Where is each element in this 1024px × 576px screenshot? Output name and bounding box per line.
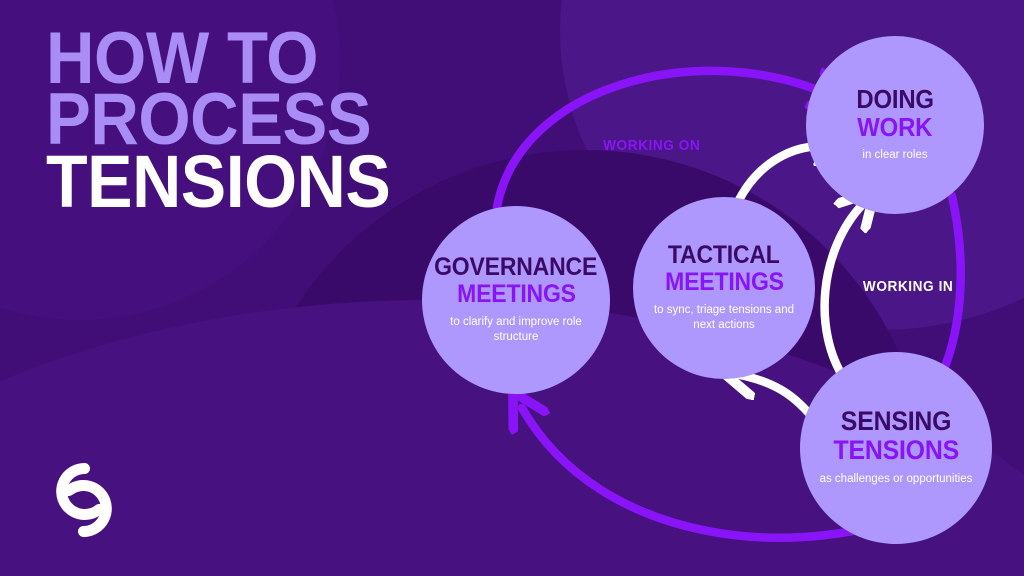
page-title: HOW TO PROCESS TENSIONS (46, 28, 420, 213)
node-governance-meetings[interactable]: GOVERNANCE MEETINGS to clarify and impro… (422, 206, 610, 394)
flow-label-working-in: WORKING IN (863, 279, 953, 295)
node-sensing-tensions-title-bottom: TENSIONS (833, 437, 959, 464)
node-governance-meetings-title-top: GOVERNANCE (434, 255, 597, 280)
node-governance-meetings-title-bottom: MEETINGS (457, 282, 576, 307)
node-doing-work-subtitle: in clear roles (862, 148, 927, 163)
node-tactical-meetings-title-top: TACTICAL (668, 243, 780, 268)
node-doing-work[interactable]: DOING WORK in clear roles (806, 36, 984, 214)
node-doing-work-title-bottom: WORK (857, 114, 932, 140)
node-governance-meetings-subtitle: to clarify and improve role structure (431, 315, 600, 345)
node-sensing-tensions-subtitle: as challenges or opportunities (820, 472, 973, 487)
node-tactical-meetings-subtitle: to sync, triage tensions and next action… (642, 303, 806, 333)
arrow-sensing-to-doing (825, 205, 862, 380)
node-sensing-tensions[interactable]: SENSING TENSIONS as challenges or opport… (800, 352, 992, 544)
interlocking-rings-logo-icon (42, 458, 126, 542)
infographic-canvas: HOW TO PROCESS TENSIONS (0, 0, 1024, 576)
node-tactical-meetings[interactable]: TACTICAL MEETINGS to sync, triage tensio… (633, 197, 815, 379)
node-tactical-meetings-title-bottom: MEETINGS (665, 270, 784, 295)
title-line-3: TENSIONS (46, 151, 390, 213)
flow-label-working-on: WORKING ON (603, 138, 700, 154)
node-sensing-tensions-title-top: SENSING (841, 408, 952, 435)
node-doing-work-title-top: DOING (856, 86, 933, 112)
